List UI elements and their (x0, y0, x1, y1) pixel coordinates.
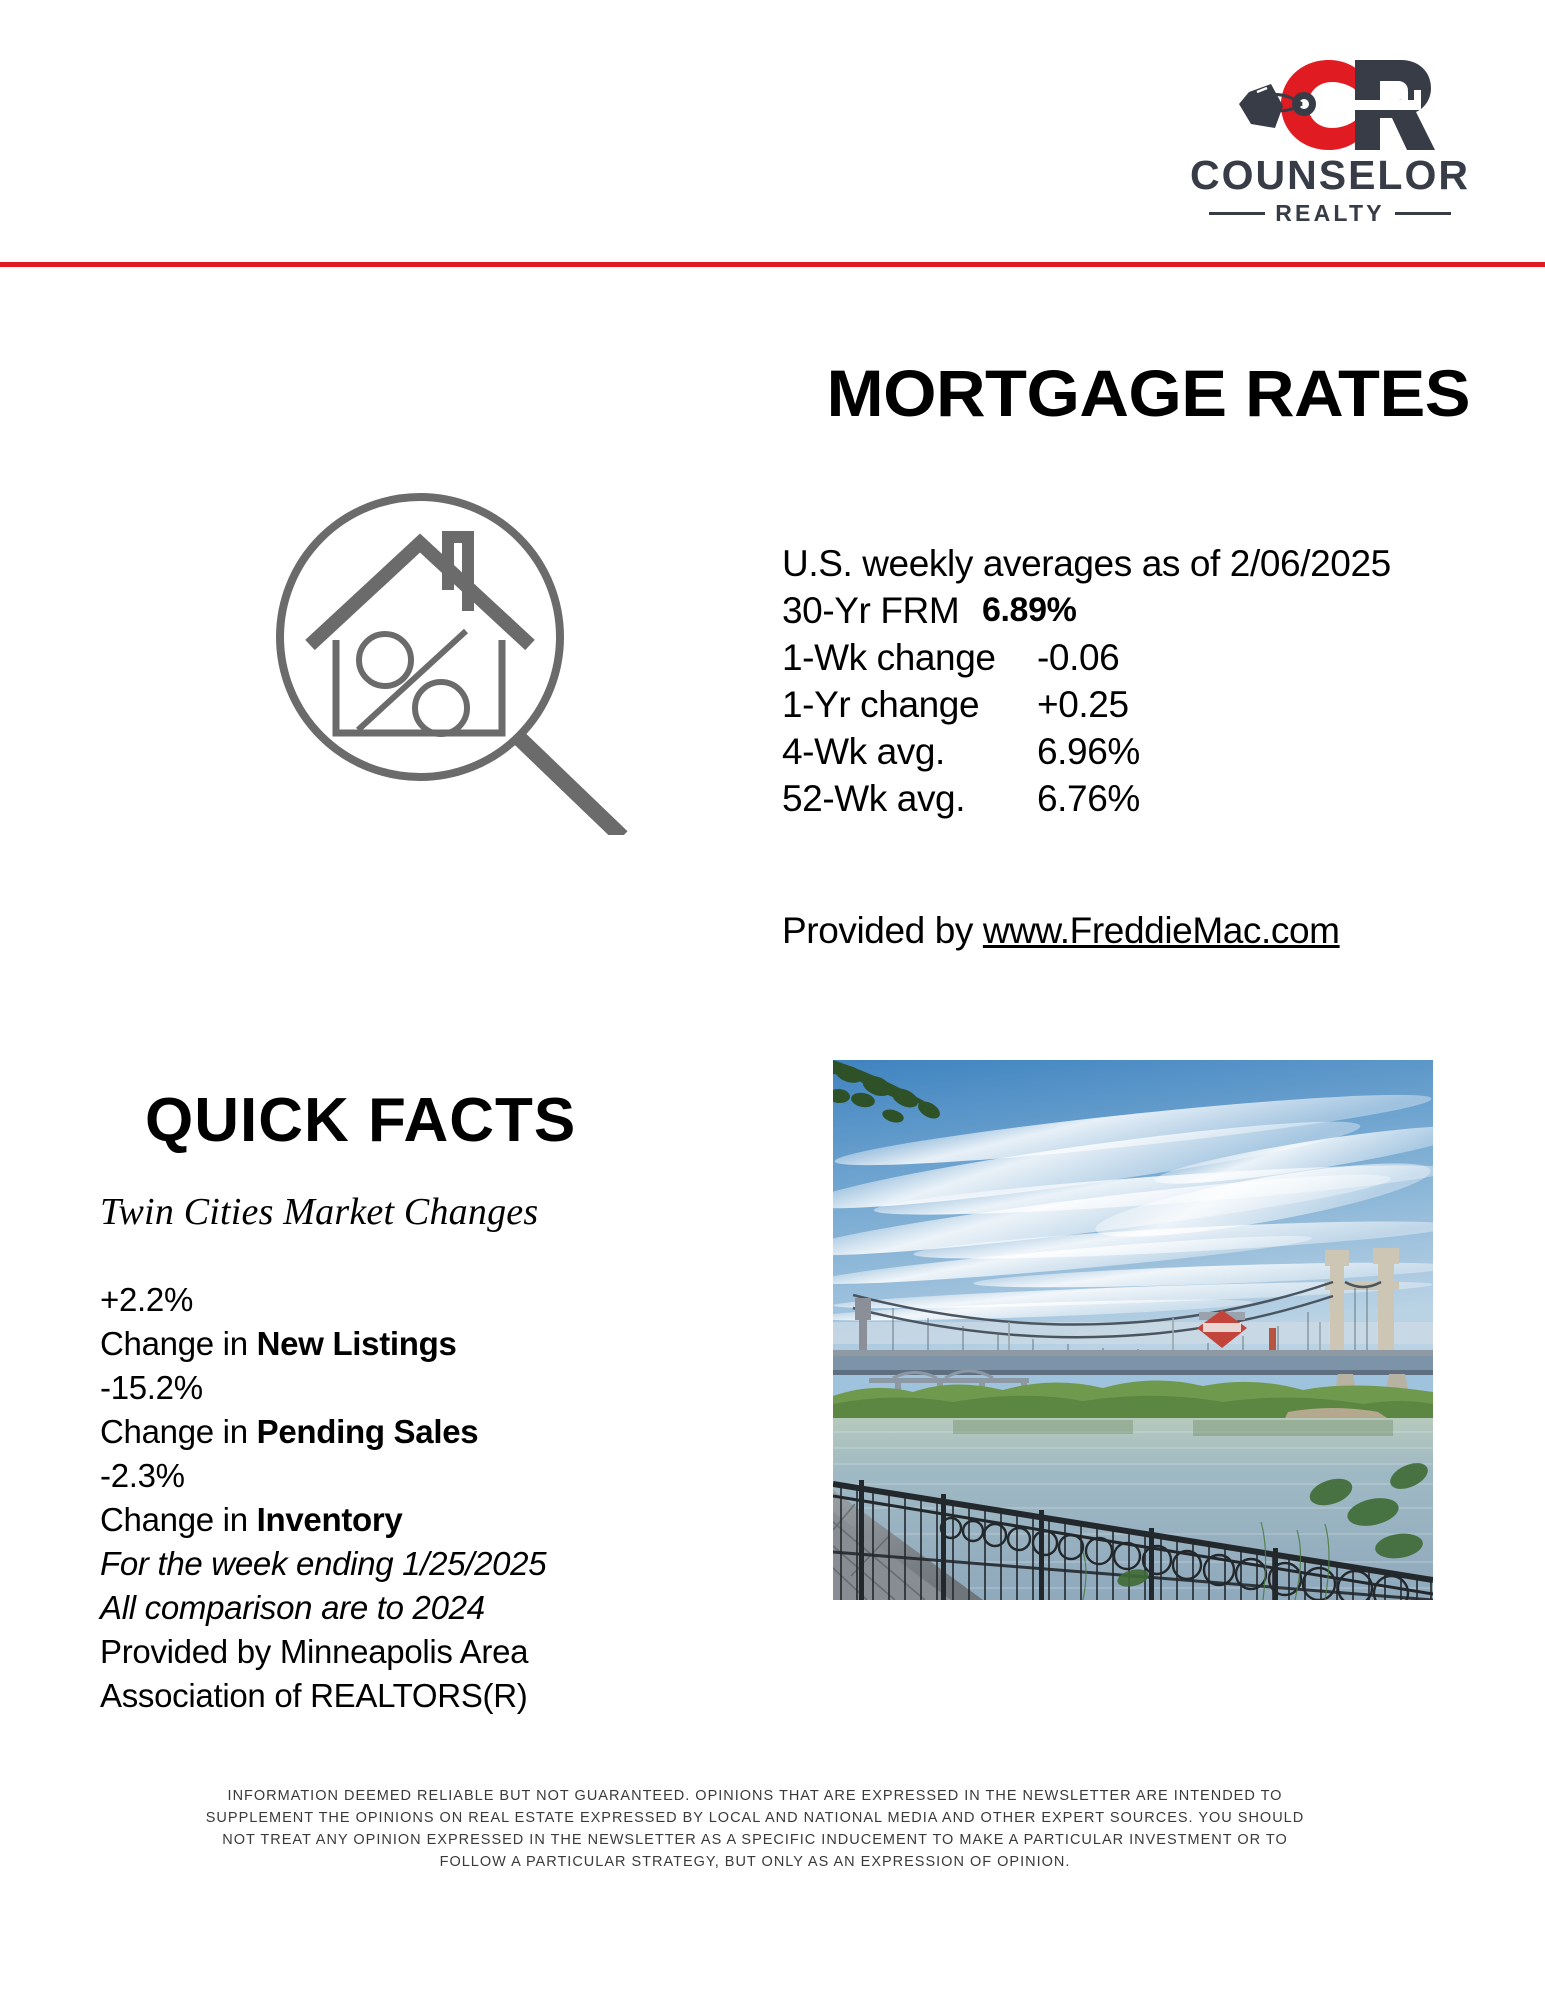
disclaimer-line-1: INFORMATION DEEMED RELIABLE BUT NOT GUAR… (150, 1785, 1360, 1807)
disclaimer-text: INFORMATION DEEMED RELIABLE BUT NOT GUAR… (150, 1785, 1360, 1873)
provided-by-label: Provided by (782, 910, 983, 951)
rate-value: 6.96% (1037, 728, 1140, 775)
rate-value: 6.76% (1037, 775, 1140, 822)
disclaimer-line-3: NOT TREAT ANY OPINION EXPRESSED IN THE N… (150, 1829, 1360, 1851)
mortgage-rates-list: U.S. weekly averages as of 2/06/2025 30-… (782, 540, 1402, 822)
cr-key-house-logo-icon (1205, 48, 1455, 156)
rate-label: 1-Wk change (782, 634, 1037, 681)
stat-value-inventory: -2.3% (100, 1454, 700, 1498)
rate-row-4wk-avg: 4-Wk avg. 6.96% (782, 728, 1402, 775)
rate-row-52wk-avg: 52-Wk avg. 6.76% (782, 775, 1402, 822)
freddie-mac-attribution: Provided by www.FreddieMac.com (782, 910, 1340, 952)
stat-label-prefix: Change in (100, 1501, 257, 1538)
disclaimer-line-4: FOLLOW A PARTICULAR STRATEGY, BUT ONLY A… (150, 1851, 1360, 1873)
quick-facts-source-line-1: Provided by Minneapolis Area (100, 1630, 700, 1674)
rate-label: 1-Yr change (782, 681, 1037, 728)
quick-facts-source-line-2: Association of REALTORS(R) (100, 1674, 700, 1718)
stat-label-prefix: Change in (100, 1413, 257, 1450)
stat-label-bold: New Listings (257, 1325, 457, 1362)
rate-row-1wk-change: 1-Wk change -0.06 (782, 634, 1402, 681)
stat-value-new-listings: +2.2% (100, 1278, 700, 1322)
rates-headline: U.S. weekly averages as of 2/06/2025 (782, 540, 1402, 587)
note-week-ending: For the week ending 1/25/2025 (100, 1542, 700, 1586)
stat-value-pending-sales: -15.2% (100, 1366, 700, 1410)
rate-label: 52-Wk avg. (782, 775, 1037, 822)
rate-label: 4-Wk avg. (782, 728, 1037, 775)
disclaimer-line-2: SUPPLEMENT THE OPINIONS ON REAL ESTATE E… (150, 1807, 1360, 1829)
stat-label-bold: Pending Sales (257, 1413, 479, 1450)
logo-rule-left (1209, 212, 1265, 215)
stat-label-new-listings: Change in New Listings (100, 1322, 700, 1366)
note-comparison-year: All comparison are to 2024 (100, 1586, 700, 1630)
page-title-mortgage-rates: MORTGAGE RATES (0, 360, 1470, 426)
minneapolis-riverfront-bridge-photo (833, 1060, 1433, 1600)
quick-facts-stats-list: +2.2% Change in New Listings -15.2% Chan… (100, 1278, 700, 1718)
rate-row-30yr-frm: 30-Yr FRM 6.89% (782, 587, 1402, 634)
red-divider (0, 262, 1545, 267)
rate-value: -0.06 (1037, 634, 1119, 681)
quick-facts-subtitle: Twin Cities Market Changes (100, 1190, 538, 1234)
house-percent-magnifier-icon (250, 485, 650, 835)
rate-value: 6.89% (982, 587, 1076, 634)
rate-label: 30-Yr FRM (782, 587, 982, 634)
brand-name: COUNSELOR (1180, 152, 1480, 199)
stat-label-prefix: Change in (100, 1325, 257, 1362)
stat-label-bold: Inventory (257, 1501, 403, 1538)
brand-logo: COUNSELOR REALTY (1180, 48, 1480, 208)
rate-value: +0.25 (1037, 681, 1129, 728)
freddie-mac-link[interactable]: www.FreddieMac.com (983, 910, 1340, 951)
brand-subtitle-group: REALTY (1180, 200, 1480, 227)
rate-row-1yr-change: 1-Yr change +0.25 (782, 681, 1402, 728)
logo-rule-right (1395, 212, 1451, 215)
stat-label-pending-sales: Change in Pending Sales (100, 1410, 700, 1454)
section-title-quick-facts: QUICK FACTS (145, 1090, 576, 1152)
stat-label-inventory: Change in Inventory (100, 1498, 700, 1542)
brand-subtitle: REALTY (1275, 200, 1385, 227)
